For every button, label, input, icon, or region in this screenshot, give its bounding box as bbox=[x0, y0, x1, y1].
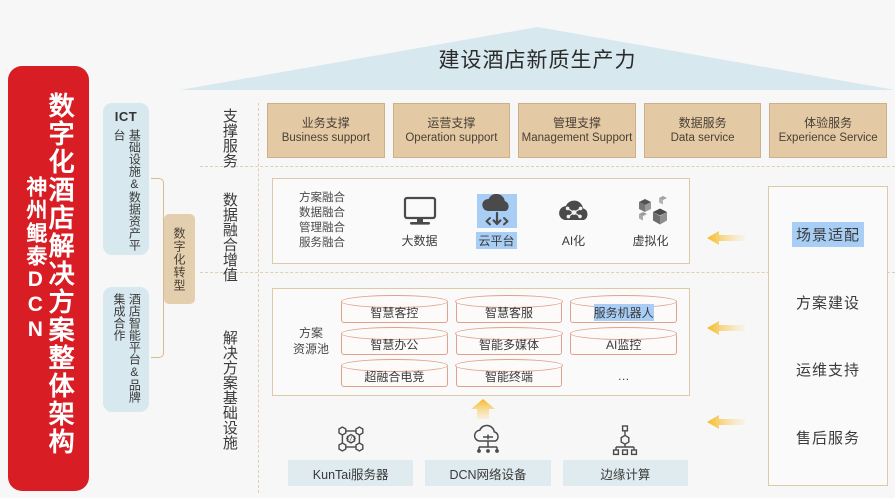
infrastructure-row: </>KunTai服务器DCN网络设备边缘计算 bbox=[288, 418, 688, 486]
resource-pool-item[interactable]: 超融合电竞 bbox=[341, 365, 448, 387]
resource-pool-panel: 方案 资源池 智慧客控智慧客服服务机器人智慧办公智能多媒体AI监控超融合电竞智能… bbox=[272, 288, 690, 396]
up-arrow-icon bbox=[468, 398, 498, 420]
fusion-text-line: 管理融合 bbox=[299, 221, 381, 236]
column-separator bbox=[258, 103, 259, 493]
infrastructure-item[interactable]: </>KunTai服务器 bbox=[288, 418, 413, 486]
support-service-label-en: Operation support bbox=[405, 131, 497, 145]
fusion-text-line: 服务融合 bbox=[299, 236, 381, 251]
support-service-label-cn: 运营支撑 bbox=[427, 116, 475, 131]
right-service-item[interactable]: 方案建设 bbox=[792, 290, 864, 315]
support-service-label-cn: 数据服务 bbox=[679, 116, 727, 131]
resource-pool-item[interactable]: 智能多媒体 bbox=[456, 333, 563, 355]
resource-pool-item-label: … bbox=[618, 369, 630, 383]
infrastructure-item[interactable]: DCN网络设备 bbox=[425, 418, 550, 486]
support-service-label-en: Experience Service bbox=[779, 131, 878, 145]
hotel-platform-box: 酒店智能平台&品牌集成合作 bbox=[103, 287, 149, 412]
resource-pool-item[interactable]: 智慧客服 bbox=[456, 301, 563, 323]
infrastructure-item[interactable]: 边缘计算 bbox=[563, 418, 688, 486]
fusion-item[interactable]: AI化 bbox=[535, 194, 612, 249]
fusion-text-line: 方案融合 bbox=[299, 191, 381, 206]
support-service-box[interactable]: 管理支撑Management Support bbox=[518, 103, 636, 158]
fusion-item-label: 大数据 bbox=[399, 232, 439, 249]
cubes-icon bbox=[631, 194, 671, 228]
architecture-diagram: 数字化酒店解决方案整体架构 神州鲲泰DCN 建设酒店新质生产力 ICT 基础设施… bbox=[0, 0, 895, 498]
ict-caption: ICT bbox=[103, 109, 149, 124]
right-service-item[interactable]: 售后服务 bbox=[792, 425, 864, 450]
right-services-panel: 场景适配方案建设运维支持售后服务 bbox=[768, 186, 888, 486]
server-mesh-icon: </> bbox=[331, 424, 371, 454]
fusion-text-block: 方案融合数据融合管理融合服务融合 bbox=[273, 191, 381, 252]
resource-pool-item-label: 智慧客服 bbox=[485, 304, 533, 321]
right-service-item[interactable]: 场景适配 bbox=[792, 222, 864, 247]
infrastructure-item-label: DCN网络设备 bbox=[425, 460, 550, 486]
banner-title-sub: 神州鲲泰DCN bbox=[24, 176, 46, 343]
support-service-box[interactable]: 数据服务Data service bbox=[644, 103, 762, 158]
roof-title: 建设酒店新质生产力 bbox=[180, 44, 895, 74]
support-service-box[interactable]: 运营支撑Operation support bbox=[393, 103, 511, 158]
support-service-box[interactable]: 业务支撑Business support bbox=[267, 103, 385, 158]
ict-platform-box: ICT 基础设施&数据资产平台 bbox=[103, 103, 149, 255]
edge-node-icon bbox=[605, 424, 645, 454]
ict-description: 基础设施&数据资产平台 bbox=[111, 129, 142, 255]
support-service-label-en: Data service bbox=[671, 131, 735, 145]
fusion-item[interactable]: 虚拟化 bbox=[612, 194, 689, 249]
resource-pool-label: 方案 资源池 bbox=[273, 326, 341, 357]
resource-pool-item-label: AI监控 bbox=[606, 336, 641, 353]
data-fusion-panel: 方案融合数据融合管理融合服务融合 大数据云平台AI化虚拟化 bbox=[272, 178, 690, 264]
digital-transformation-label: 数字化转型 bbox=[171, 227, 188, 292]
row-separator-1 bbox=[200, 166, 895, 167]
support-service-box[interactable]: 体验服务Experience Service bbox=[769, 103, 887, 158]
resource-pool-item[interactable]: 智慧客控 bbox=[341, 301, 448, 323]
network-cloud-icon bbox=[468, 424, 508, 454]
row-label-base: 解决方案基础设施 bbox=[200, 330, 258, 450]
digital-transformation-pill: 数字化转型 bbox=[164, 214, 195, 304]
row-label-support: 支撑服务 bbox=[200, 108, 258, 168]
resource-pool-item[interactable]: AI监控 bbox=[570, 333, 677, 355]
support-service-label-en: Business support bbox=[282, 131, 370, 145]
infrastructure-item-label: KunTai服务器 bbox=[288, 460, 413, 486]
svg-text:</>: </> bbox=[345, 436, 356, 443]
support-service-label-cn: 业务支撑 bbox=[302, 116, 350, 131]
resource-pool-item[interactable]: 服务机器人 bbox=[570, 301, 677, 323]
support-service-label-cn: 体验服务 bbox=[804, 116, 852, 131]
ai-cloud-icon bbox=[554, 194, 594, 228]
left-arrow-icon-3 bbox=[706, 412, 746, 432]
fusion-icons-row: 大数据云平台AI化虚拟化 bbox=[381, 194, 689, 249]
resource-pool-item-label: 智慧客控 bbox=[370, 304, 418, 321]
resource-pool-item-label: 超融合电竞 bbox=[364, 368, 424, 385]
resource-pool-item-label: 智能多媒体 bbox=[479, 336, 539, 353]
support-service-label-en: Management Support bbox=[522, 131, 633, 145]
infrastructure-item-label: 边缘计算 bbox=[563, 460, 688, 486]
resource-pool-item[interactable]: 智慧办公 bbox=[341, 333, 448, 355]
monitor-icon bbox=[400, 194, 440, 228]
fusion-text-line: 数据融合 bbox=[299, 206, 381, 221]
right-service-item[interactable]: 运维支持 bbox=[792, 357, 864, 382]
resource-pool-item-label: 智能终端 bbox=[485, 368, 533, 385]
fusion-item-label: 云平台 bbox=[476, 232, 516, 249]
resource-pool-item-label: 智慧办公 bbox=[370, 336, 418, 353]
banner-title-main: 数字化酒店解决方案整体架构 bbox=[46, 92, 73, 456]
row-label-fusion: 数据融合增值 bbox=[200, 192, 258, 282]
fusion-item[interactable]: 大数据 bbox=[381, 194, 458, 249]
hotel-description: 酒店智能平台&品牌集成合作 bbox=[111, 293, 142, 412]
resource-pool-grid: 智慧客控智慧客服服务机器人智慧办公智能多媒体AI监控超融合电竞智能终端… bbox=[341, 296, 689, 388]
resource-pool-item[interactable]: … bbox=[570, 365, 677, 387]
fusion-item-label: AI化 bbox=[560, 232, 587, 249]
left-arrow-icon-2 bbox=[706, 318, 746, 338]
left-arrow-icon-1 bbox=[706, 228, 746, 248]
fusion-item-label: 虚拟化 bbox=[630, 232, 670, 249]
support-services-row: 业务支撑Business support运营支撑Operation suppor… bbox=[267, 103, 887, 158]
resource-pool-item[interactable]: 智能终端 bbox=[456, 365, 563, 387]
title-banner: 数字化酒店解决方案整体架构 神州鲲泰DCN bbox=[8, 66, 89, 491]
resource-pool-item-label: 服务机器人 bbox=[594, 304, 654, 321]
cloud-sync-icon bbox=[477, 194, 517, 228]
support-service-label-cn: 管理支撑 bbox=[553, 116, 601, 131]
fusion-item[interactable]: 云平台 bbox=[458, 194, 535, 249]
